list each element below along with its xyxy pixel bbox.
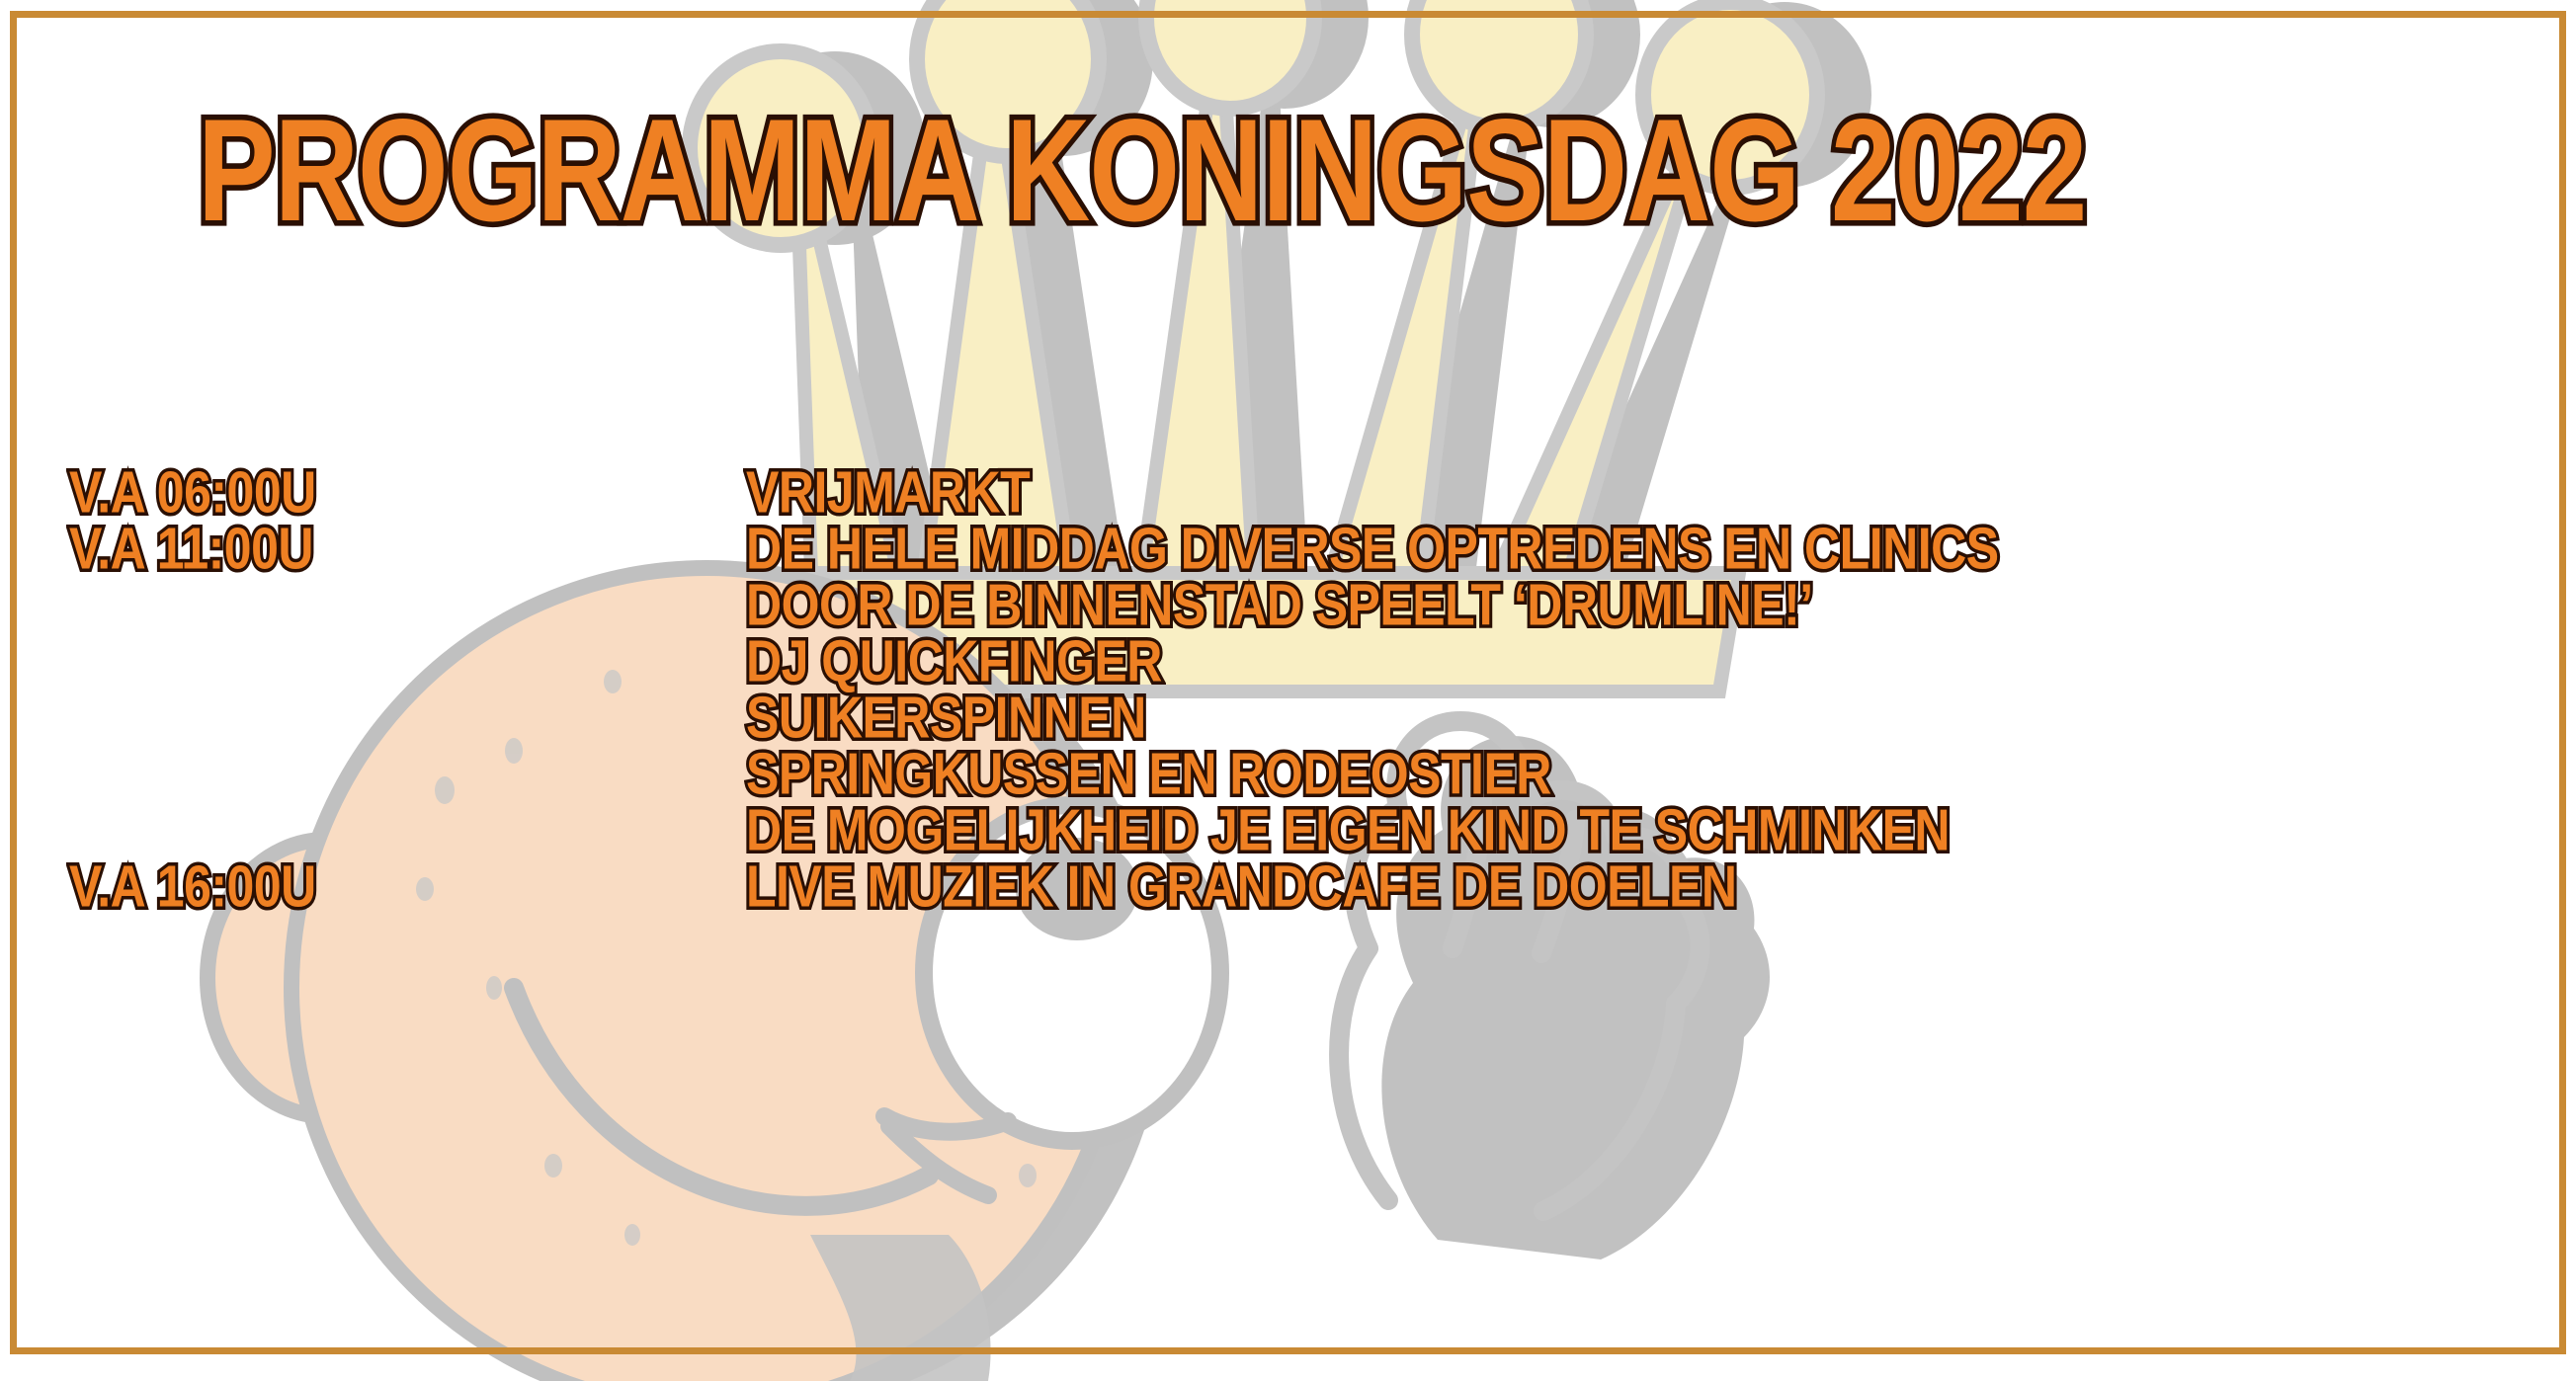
schedule-row: V.A 06:00U VRIJMARKT: [0, 458, 2576, 515]
koningsdag-programme-poster: PROGRAMMA KONINGSDAG 2022 V.A 06:00U VRI…: [0, 0, 2576, 1381]
schedule-row: SUIKERSPINNEN: [0, 684, 2576, 740]
schedule-row: DOOR DE BINNENSTAD SPEELT ‘DRUMLINE!’: [0, 571, 2576, 627]
schedule-event: LIVE MUZIEK IN GRANDCAFE DE DOELEN: [746, 853, 1736, 920]
schedule-row: SPRINGKUSSEN EN RODEOSTIER: [0, 740, 2576, 796]
schedule-row: V.A 16:00U LIVE MUZIEK IN GRANDCAFE DE D…: [0, 853, 2576, 909]
schedule-time: V.A 16:00U: [69, 853, 316, 920]
schedule-row: V.A 11:00U DE HELE MIDDAG DIVERSE OPTRED…: [0, 515, 2576, 571]
schedule-row: DE MOGELIJKHEID JE EIGEN KIND TE SCHMINK…: [0, 796, 2576, 853]
schedule-row: DJ QUICKFINGER: [0, 627, 2576, 684]
page-title: PROGRAMMA KONINGSDAG 2022: [198, 87, 2086, 255]
programme-schedule: V.A 06:00U VRIJMARKT V.A 11:00U DE HELE …: [0, 458, 2576, 909]
